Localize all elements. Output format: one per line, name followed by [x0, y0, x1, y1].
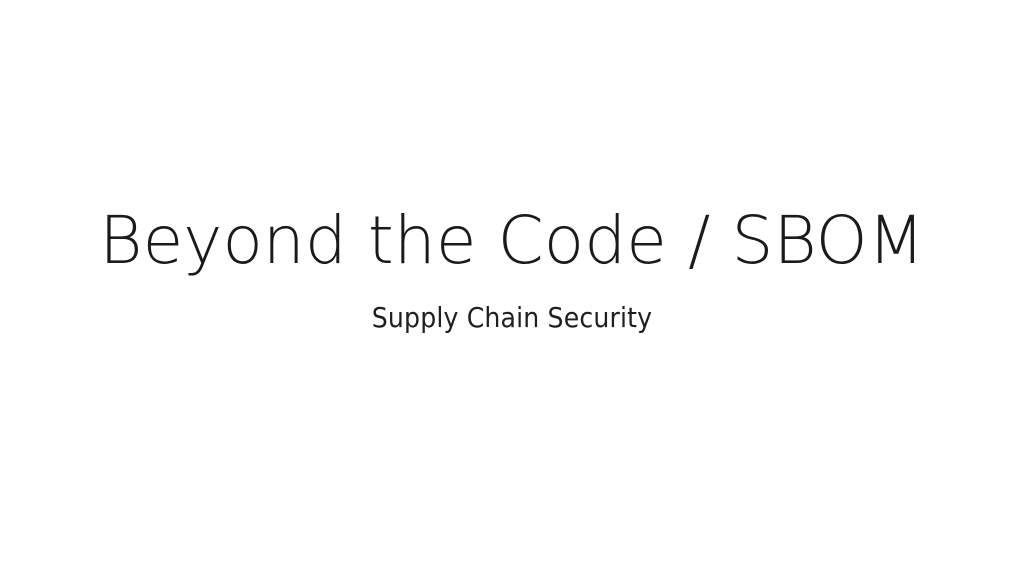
page-title: Beyond the Code / SBOM	[0, 206, 1024, 276]
slide-subtitle: Supply Chain Security	[0, 302, 1024, 334]
title-slide: Beyond the Code / SBOM Supply Chain Secu…	[0, 0, 1024, 576]
